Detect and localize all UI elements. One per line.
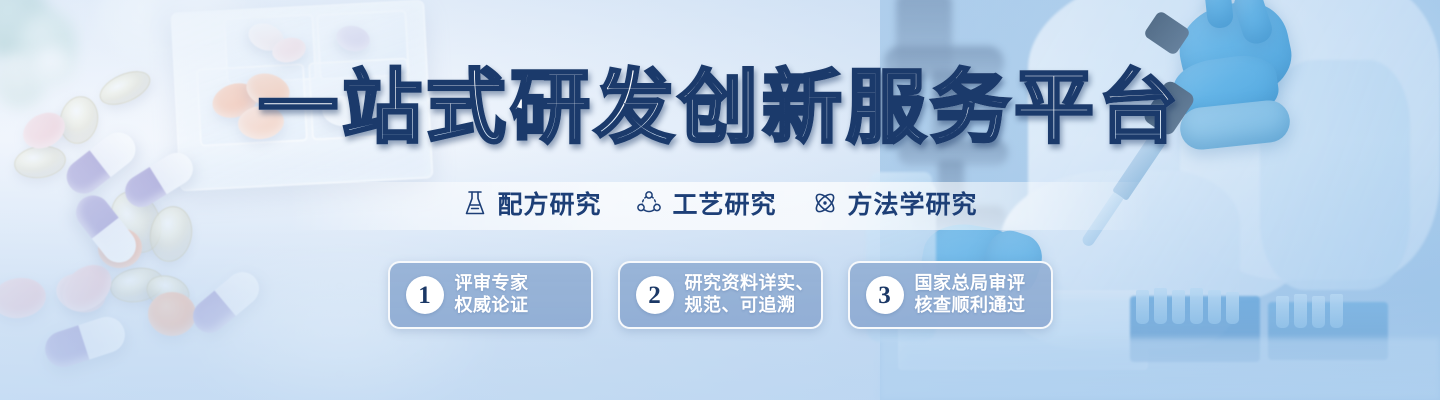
banner-title: 一站式研发创新服务平台 <box>258 68 1182 148</box>
feature-card-3[interactable]: 3 国家总局审评 核查顺利通过 <box>848 261 1053 329</box>
atom-icon <box>811 189 839 222</box>
feature-card-1[interactable]: 1 评审专家 权威论证 <box>388 261 593 329</box>
card-line-1: 评审专家 <box>455 273 529 295</box>
service-label: 方法学研究 <box>848 193 978 218</box>
card-line-2: 核查顺利通过 <box>915 295 1026 317</box>
service-list: 配方研究 工艺研究 <box>0 189 1440 222</box>
card-number-badge: 2 <box>636 276 674 314</box>
card-line-1: 国家总局审评 <box>915 273 1026 295</box>
card-number-badge: 1 <box>406 276 444 314</box>
feature-card-list: 1 评审专家 权威论证 2 研究资料详实、 规范、可追溯 3 国家总局审评 核查… <box>0 261 1440 329</box>
service-item-formulation[interactable]: 配方研究 <box>462 189 601 222</box>
card-number-badge: 3 <box>866 276 904 314</box>
service-label: 配方研究 <box>497 193 601 218</box>
flask-icon <box>462 189 488 222</box>
service-label: 工艺研究 <box>672 193 776 218</box>
molecule-icon <box>635 189 663 222</box>
promo-banner: 一站式研发创新服务平台 配方研究 <box>0 0 1440 400</box>
card-text: 评审专家 权威论证 <box>455 273 529 317</box>
service-item-process[interactable]: 工艺研究 <box>635 189 776 222</box>
card-line-2: 权威论证 <box>455 295 529 317</box>
card-text: 国家总局审评 核查顺利通过 <box>915 273 1026 317</box>
card-line-2: 规范、可追溯 <box>685 295 815 317</box>
card-text: 研究资料详实、 规范、可追溯 <box>685 273 815 317</box>
banner-content: 一站式研发创新服务平台 配方研究 <box>0 0 1440 400</box>
service-item-methodology[interactable]: 方法学研究 <box>811 189 978 222</box>
card-line-1: 研究资料详实、 <box>685 273 815 295</box>
feature-card-2[interactable]: 2 研究资料详实、 规范、可追溯 <box>618 261 823 329</box>
